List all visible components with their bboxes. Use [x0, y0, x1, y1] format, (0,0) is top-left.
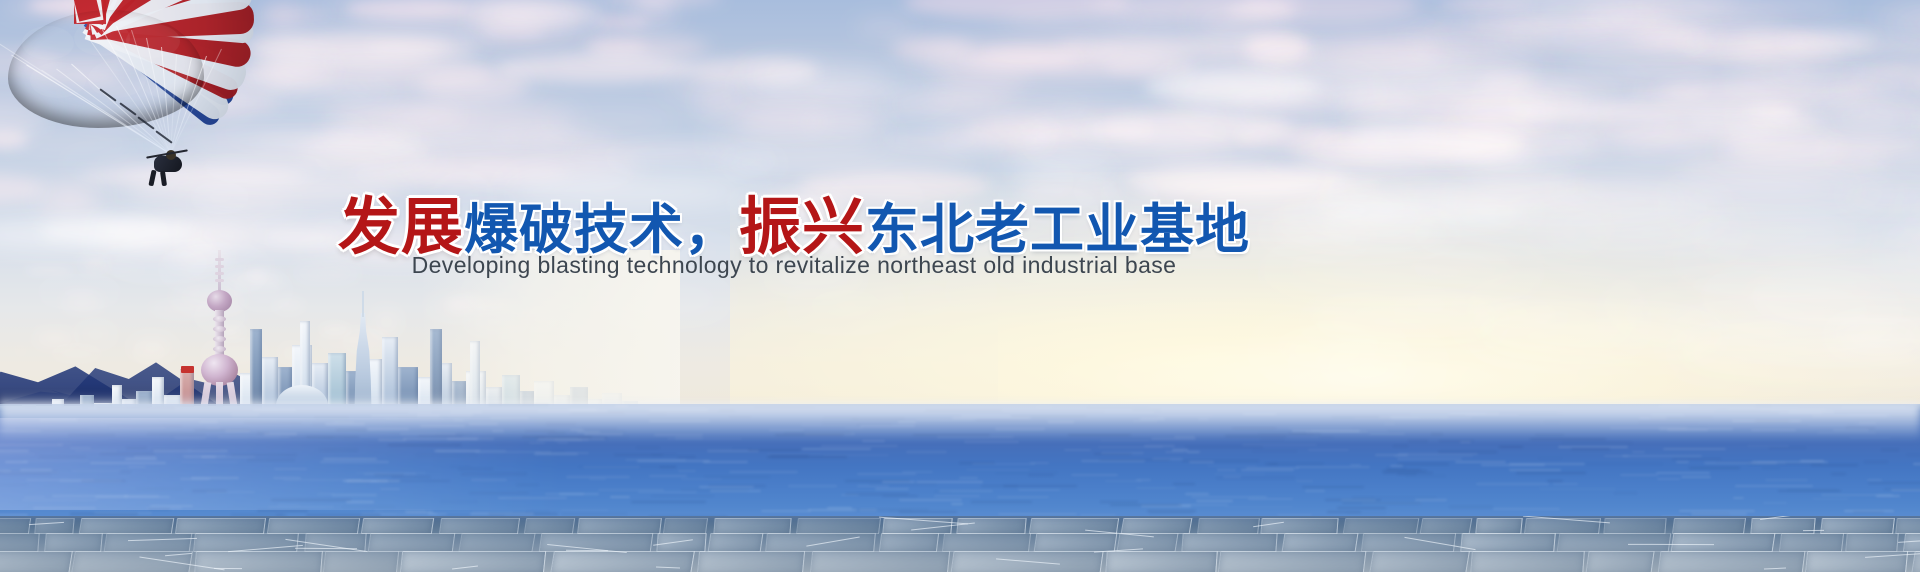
- water-ripple: [1769, 447, 1806, 449]
- plaza-slab: [1750, 518, 1815, 534]
- plaza-slab: [1420, 518, 1473, 534]
- plaza-slab: [1121, 518, 1193, 534]
- water-ripple: [1509, 469, 1562, 471]
- water-ripple: [1689, 467, 1740, 469]
- water-ripple: [1663, 448, 1725, 450]
- plaza-slab: [1218, 551, 1366, 572]
- water-ripple: [788, 485, 836, 487]
- water-ripple: [821, 445, 899, 447]
- water-ripple: [649, 475, 687, 477]
- stone-paved-plaza: [0, 516, 1920, 572]
- water-ripple: [1499, 446, 1522, 448]
- water-ripple: [1144, 445, 1175, 447]
- tower-bead: [213, 316, 226, 322]
- cloud: [1622, 133, 1841, 161]
- water-ripple: [1302, 486, 1364, 488]
- water-ripple: [1763, 502, 1787, 504]
- water-ripple: [614, 454, 663, 456]
- water-ripple: [651, 495, 714, 497]
- water-ripple: [1248, 498, 1293, 500]
- water-ripple: [882, 481, 915, 483]
- cloud: [891, 38, 972, 58]
- water-ripple: [677, 456, 696, 458]
- cloud: [1003, 12, 1141, 27]
- water-ripple: [1620, 474, 1659, 476]
- water-ripple: [1186, 451, 1200, 453]
- water-ripple: [1260, 438, 1285, 440]
- plaza-slab: [1845, 533, 1899, 552]
- cloud: [1189, 15, 1473, 27]
- water-ripple: [1509, 463, 1585, 465]
- plaza-slab: [34, 518, 74, 534]
- plaza-slab: [1820, 518, 1894, 534]
- parasail-pilot: [148, 146, 192, 188]
- cloud: [932, 74, 1031, 88]
- plaza-slab: [439, 518, 520, 534]
- water-ripple: [1252, 450, 1297, 452]
- tower-antenna: [362, 291, 364, 317]
- water-ripple: [1018, 489, 1060, 491]
- building-red-sign: [181, 366, 194, 373]
- water-ripple: [1405, 475, 1446, 477]
- cloud: [1214, 34, 1299, 57]
- plaza-slab: [1197, 518, 1260, 534]
- plaza-slab: [942, 533, 1032, 552]
- water-ripple: [1182, 460, 1259, 462]
- water-ripple: [1853, 511, 1884, 513]
- water-ripple: [964, 441, 1019, 443]
- plaza-slab: [1586, 551, 1655, 572]
- water-ripple: [1147, 510, 1196, 512]
- water-ripple: [981, 485, 1018, 487]
- cloud: [543, 114, 672, 129]
- water-ripple: [1342, 502, 1421, 504]
- cloud: [1674, 32, 1874, 46]
- water-ripple: [1397, 458, 1462, 460]
- plaza-slab: [78, 518, 173, 534]
- water-ripple: [560, 509, 609, 511]
- plaza-slab: [361, 518, 435, 534]
- cloud: [1433, 77, 1713, 93]
- water-ripple: [1632, 451, 1645, 453]
- water-ripple: [703, 461, 748, 463]
- plaza-slab: [1369, 551, 1470, 572]
- cloud: [1317, 37, 1440, 63]
- plaza-slab: [1779, 533, 1845, 552]
- cloud: [806, 86, 895, 94]
- plaza-slab: [524, 518, 575, 534]
- water-ripple: [1372, 497, 1437, 499]
- water-ripple: [1246, 467, 1298, 469]
- water-ripple: [1346, 512, 1386, 514]
- water-ripple: [1099, 459, 1170, 461]
- plaza-slab: [577, 518, 661, 534]
- cloud: [1164, 73, 1294, 100]
- water-ripple: [875, 488, 910, 490]
- water-ripple: [1676, 461, 1689, 463]
- water-ripple: [638, 491, 697, 493]
- water-ripple: [869, 483, 938, 485]
- cloud: [495, 131, 615, 143]
- cloud: [559, 57, 670, 64]
- water-ripple: [882, 495, 918, 497]
- water-ripple: [1656, 472, 1710, 474]
- water-ripple: [1136, 487, 1177, 489]
- water-ripple: [770, 455, 809, 457]
- water-ripple: [1906, 454, 1920, 456]
- water-ripple: [827, 507, 852, 509]
- water-ripple: [1217, 469, 1236, 471]
- water-ripple: [1604, 455, 1630, 457]
- water-ripple: [1493, 508, 1560, 510]
- water-ripple: [428, 513, 447, 515]
- plaza-slab: [0, 518, 31, 534]
- water-ripple: [1189, 461, 1214, 463]
- water-ripple: [998, 513, 1078, 515]
- cloud: [607, 144, 773, 173]
- water-ripple: [1672, 458, 1721, 460]
- cloud: [1485, 35, 1699, 47]
- water-ripple: [1831, 473, 1845, 475]
- hero-banner: 发展爆破技术，振兴东北老工业基地 Developing blasting tec…: [0, 0, 1920, 572]
- water-ripple: [1679, 510, 1755, 512]
- water-ripple: [1337, 507, 1386, 509]
- plaza-slab: [956, 518, 1027, 534]
- tower-bead: [213, 346, 226, 352]
- cloud: [346, 0, 471, 17]
- water-ripple: [1341, 499, 1376, 501]
- water-ripple: [1214, 473, 1265, 475]
- water-ripple: [470, 513, 534, 515]
- water-ripple: [1748, 463, 1823, 465]
- water-ripple: [972, 463, 1036, 465]
- cloud: [587, 38, 709, 58]
- plaza-slab: [1033, 533, 1116, 552]
- water-ripple: [659, 466, 676, 468]
- water-ripple: [857, 485, 890, 487]
- water-ripple: [1571, 448, 1610, 450]
- water-ripple: [1553, 483, 1578, 485]
- water-ripple: [959, 477, 978, 479]
- plaza-slab: [0, 551, 73, 572]
- water-ripple: [1223, 476, 1241, 478]
- water-ripple: [1101, 452, 1144, 454]
- plaza-slab: [1903, 533, 1920, 552]
- water-ripple: [1196, 500, 1233, 502]
- striped-parachute-canopy: [0, 0, 248, 154]
- water-ripple: [802, 448, 870, 450]
- water-ripple: [1622, 455, 1702, 457]
- water-ripple: [1191, 496, 1267, 498]
- subtitle-text: Developing blasting technology to revita…: [412, 252, 1177, 279]
- water-ripple: [729, 471, 798, 473]
- water-ripple: [1071, 474, 1118, 476]
- plaza-slab: [1105, 551, 1218, 572]
- water-ripple: [610, 496, 629, 498]
- water-ripple: [845, 493, 909, 495]
- water-ripple: [1778, 490, 1841, 492]
- water-ripple: [1397, 463, 1449, 465]
- plaza-slab: [103, 533, 192, 552]
- plaza-slab: [44, 533, 103, 552]
- plaza-slab: [663, 518, 709, 534]
- plaza-slab: [400, 551, 547, 572]
- plaza-slab: [175, 518, 266, 534]
- canopy-cell: [22, 26, 74, 60]
- water-ripple: [939, 490, 993, 492]
- water-ripple: [710, 490, 761, 492]
- water-ripple: [1449, 506, 1493, 508]
- cloud: [738, 109, 827, 134]
- water-ripple: [1821, 494, 1894, 496]
- water-ripple: [1539, 488, 1616, 490]
- cloud: [944, 275, 998, 307]
- water-ripple: [1735, 485, 1813, 487]
- pilot-leg: [160, 171, 167, 187]
- water-ripple: [1868, 482, 1920, 484]
- water-ripple: [1151, 438, 1196, 440]
- plaza-slab: [879, 533, 939, 552]
- plaza-slab: [1342, 518, 1419, 534]
- water-ripple: [1241, 469, 1294, 471]
- cloud: [983, 44, 1122, 57]
- cloud: [1263, 163, 1427, 177]
- water-ripple: [1028, 474, 1054, 476]
- water-ripple: [1308, 449, 1349, 451]
- plaza-slab: [810, 551, 951, 572]
- plaza-slab: [267, 518, 360, 534]
- water-ripple: [562, 513, 627, 515]
- water-ripple: [1136, 479, 1152, 481]
- water-ripple: [681, 478, 722, 480]
- water-ripple: [631, 501, 706, 503]
- water-ripple: [761, 510, 811, 512]
- plaza-slab: [1670, 533, 1774, 552]
- water-ripple: [808, 509, 857, 511]
- headline: 发展爆破技术，振兴东北老工业基地: [0, 196, 1920, 258]
- water-ripple: [1149, 512, 1194, 514]
- water-ripple: [1812, 498, 1849, 500]
- plaza-slab: [697, 551, 806, 572]
- water-ripple: [934, 495, 981, 497]
- water-ripple: [1305, 490, 1325, 492]
- pilot-leg: [148, 170, 156, 187]
- water-ripple: [1884, 488, 1920, 490]
- water-ripple: [1733, 497, 1744, 499]
- water-ripple: [1530, 438, 1605, 440]
- cloud: [497, 9, 577, 18]
- water-ripple: [1296, 466, 1370, 468]
- water-ripple: [1762, 467, 1780, 469]
- cloud: [883, 122, 978, 140]
- tower-bead: [213, 326, 226, 332]
- plaza-slab: [1657, 551, 1805, 572]
- water-ripple: [70, 513, 138, 515]
- water-ripple: [704, 476, 771, 478]
- water-ripple: [1516, 472, 1586, 474]
- plaza-slab: [1896, 518, 1920, 534]
- water-ripple: [1765, 479, 1808, 481]
- water-ripple: [1185, 446, 1263, 448]
- plaza-slab: [368, 533, 456, 552]
- water-ripple: [1681, 476, 1711, 478]
- water-ripple: [1225, 506, 1294, 508]
- water-ripple: [1398, 453, 1478, 455]
- water-ripple: [1561, 442, 1633, 444]
- water-ripple: [1408, 440, 1428, 442]
- water-ripple: [1172, 449, 1188, 451]
- cloud: [1238, 102, 1336, 131]
- water-ripple: [1296, 480, 1313, 482]
- cloud: [326, 52, 434, 70]
- water-ripple: [1455, 461, 1505, 463]
- cloud: [368, 42, 450, 53]
- plaza-slab: [458, 533, 536, 552]
- water-ripple: [1383, 472, 1433, 474]
- water-ripple: [374, 510, 426, 512]
- water-ripple: [1614, 492, 1637, 494]
- water-ripple: [1657, 478, 1680, 480]
- water-purple-tint: [0, 418, 560, 510]
- water-ripple: [636, 447, 660, 449]
- water-ripple: [1269, 463, 1324, 465]
- cloud: [627, 7, 674, 20]
- water-ripple: [589, 478, 607, 480]
- water-ripple: [1864, 461, 1888, 463]
- plaza-slab: [1475, 518, 1523, 534]
- water-ripple: [1476, 483, 1549, 485]
- plaza-slab: [0, 533, 39, 552]
- water-ripple: [951, 503, 963, 505]
- water-ripple: [906, 451, 948, 453]
- water-ripple: [899, 499, 962, 501]
- water-ripple: [472, 511, 514, 513]
- water-ripple: [1165, 451, 1185, 453]
- cloud: [1302, 345, 1433, 388]
- water-ripple: [1100, 440, 1149, 442]
- plaza-slab: [1672, 518, 1746, 534]
- cloud: [855, 17, 914, 37]
- water-ripple: [566, 476, 630, 478]
- plaza-slab: [707, 533, 763, 552]
- water-ripple: [1393, 445, 1408, 447]
- water-ripple: [857, 473, 916, 475]
- cloud: [321, 102, 460, 122]
- plaza-slab: [323, 551, 399, 572]
- water-ripple: [583, 466, 640, 468]
- cloud: [787, 297, 905, 314]
- cloud: [987, 172, 1078, 189]
- plaza-slab: [713, 518, 791, 534]
- tower-bead: [213, 336, 226, 342]
- cloud: [1369, 297, 1493, 314]
- cloud: [600, 0, 721, 3]
- cloud: [1671, 337, 1920, 368]
- water-ripple: [1173, 483, 1196, 485]
- water-ripple: [862, 440, 885, 442]
- cloud: [1722, 78, 1920, 91]
- water-ripple: [971, 501, 1032, 503]
- plaza-slab: [1603, 518, 1666, 534]
- water-ripple: [1747, 445, 1789, 447]
- water-ripple: [1064, 449, 1091, 451]
- plaza-slab: [1470, 551, 1585, 572]
- water-ripple: [1547, 480, 1563, 482]
- plaza-slab: [1260, 518, 1339, 534]
- water-ripple: [1585, 463, 1663, 465]
- plaza-crack: [566, 549, 608, 550]
- water-ripple: [1439, 440, 1474, 442]
- subtitle: Developing blasting technology to revita…: [0, 252, 1920, 279]
- water-ripple: [853, 509, 929, 511]
- water-ripple: [1913, 463, 1920, 465]
- water-ripple: [997, 496, 1049, 498]
- plaza-slab: [796, 518, 881, 534]
- water-ripple: [699, 486, 755, 488]
- water-ripple: [1100, 501, 1138, 503]
- water-ripple: [1538, 457, 1562, 459]
- water-ripple: [637, 460, 709, 462]
- water-ripple: [748, 449, 801, 451]
- tower-upper-sphere: [207, 290, 232, 312]
- plaza-slab: [550, 551, 695, 572]
- water-ripple: [916, 481, 983, 483]
- plaza-slab: [1182, 533, 1278, 552]
- cloud: [481, 23, 543, 40]
- tower-ring: [215, 279, 224, 282]
- water-ripple: [678, 470, 696, 472]
- water-ripple: [1881, 449, 1899, 451]
- plaza-slab: [1556, 533, 1671, 552]
- cloud: [1762, 63, 1871, 74]
- water-ripple: [1867, 479, 1882, 481]
- plaza-slab: [1281, 533, 1358, 552]
- water-ripple: [899, 511, 957, 513]
- water-ripple: [1242, 444, 1317, 446]
